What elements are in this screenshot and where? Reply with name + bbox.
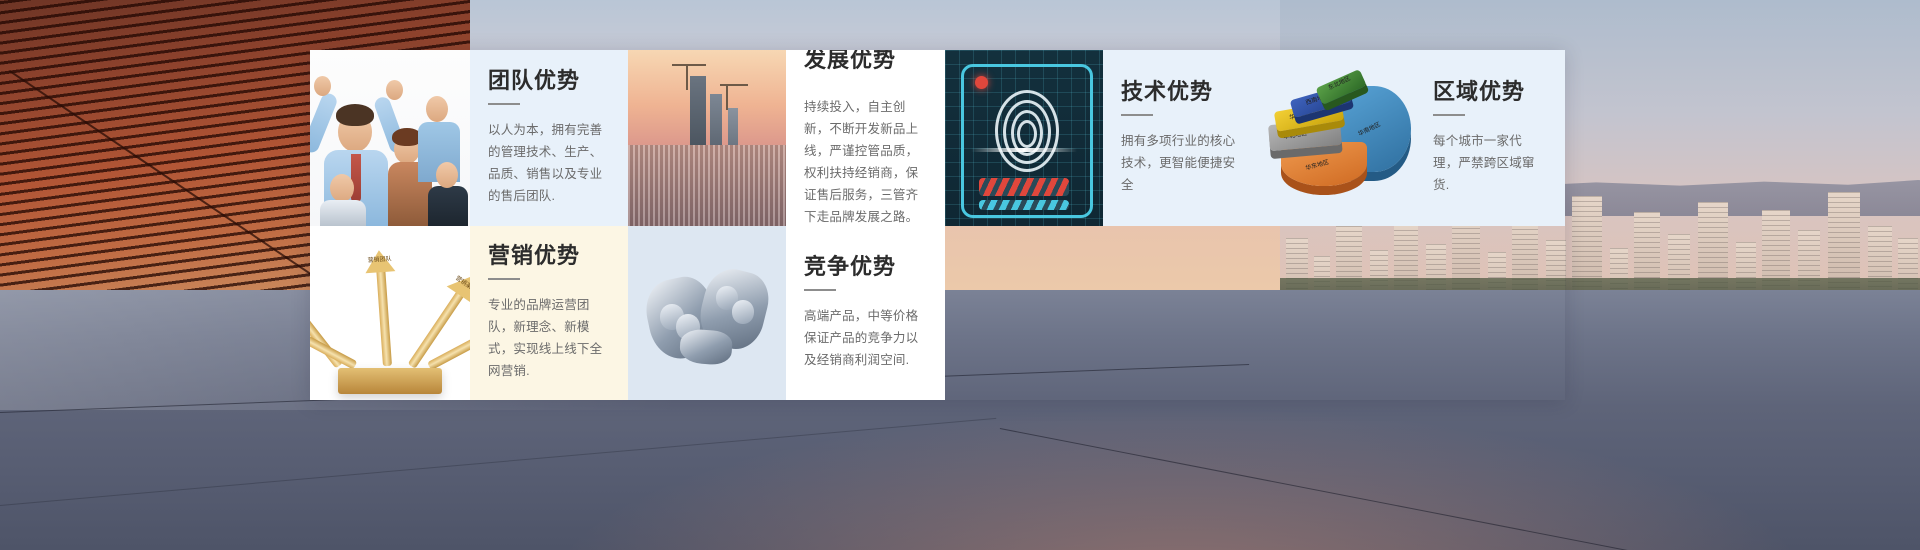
chevron-bar-blue [979,200,1069,210]
status-indicator-dot [975,76,988,89]
card-desc-team: 以人为本，拥有完善的管理技术、生产、品质、销售以及专业的售后团队. [488,119,610,207]
card-text-marketing[interactable]: 营销优势 专业的品牌运营团队，新理念、新模式，实现线上线下全网营销. [470,226,628,400]
banner-stage: 团队优势 以人为本，拥有完善的管理技术、生产、品质、销售以及专业的售后团队. 发… [0,0,1920,550]
card-text-competition[interactable]: 竞争优势 高端产品，中等价格保证产品的竞争力以及经销商利润空间. [786,226,945,400]
card-image-development [628,50,786,226]
title-rule [1121,114,1153,116]
card-desc-region: 每个城市一家代理，严禁跨区域窜货. [1433,130,1547,196]
title-rule [1433,114,1465,116]
city-below [628,145,786,226]
card-title-region: 区域优势 [1433,80,1547,104]
arrow-label: 营销团队 [367,253,392,264]
title-rule [804,289,836,291]
card-image-team [310,50,470,226]
card-desc-technology: 拥有多项行业的核心技术，更智能便捷安全 [1121,130,1243,196]
card-image-competition [628,226,786,400]
card-desc-marketing: 专业的品牌运营团队，新理念、新模式，实现线上线下全网营销. [488,294,610,382]
card-image-marketing: 营销策略 营销服务 营销团队 营销渠道 营销模式 [310,226,470,400]
card-text-technology[interactable]: 技术优势 拥有多项行业的核心技术，更智能便捷安全 [1103,50,1261,226]
card-desc-competition: 高端产品，中等价格保证产品的竞争力以及经销商利润空间. [804,305,927,371]
card-desc-development: 持续投入，自主创新，不断开发新品上线，严谨控管品质，权利扶持经销商，保证售后服务… [804,96,927,226]
card-text-development[interactable]: 发展优势 持续投入，自主创新，不断开发新品上线，严谨控管品质，权利扶持经销商，保… [786,50,945,226]
title-rule [488,103,520,105]
title-rule [488,278,520,280]
card-title-development: 发展优势 [804,50,927,73]
card-text-team[interactable]: 团队优势 以人为本，拥有完善的管理技术、生产、品质、销售以及专业的售后团队. [470,50,628,226]
card-image-region: 华南地区 华东地区 华北地区 华中地区 西南地区 东北地区 [1261,50,1415,226]
card-title-marketing: 营销优势 [488,244,610,268]
card-title-technology: 技术优势 [1121,80,1243,104]
card-title-competition: 竞争优势 [804,255,927,279]
advantages-grid: 团队优势 以人为本，拥有完善的管理技术、生产、品质、销售以及专业的售后团队. 发… [310,50,1565,400]
sunset-sky [628,50,786,152]
scan-line [971,148,1077,152]
card-image-technology [945,50,1103,226]
arrow-podium [338,368,442,394]
chevron-bar-red [979,178,1069,196]
card-title-team: 团队优势 [488,69,610,93]
card-text-region[interactable]: 区域优势 每个城市一家代理，严禁跨区域窜货. [1415,50,1565,226]
